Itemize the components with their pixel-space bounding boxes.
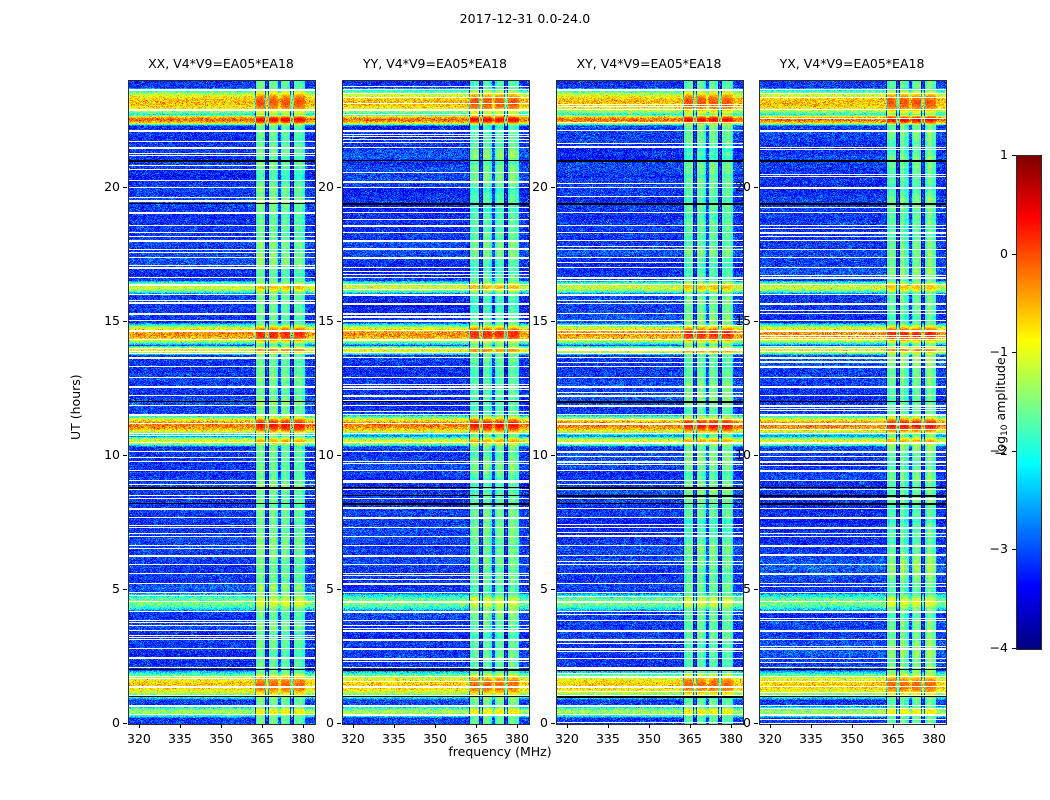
colorbar-tick-label: 1	[964, 147, 1008, 162]
waterfall-panel-yy[interactable]	[342, 80, 530, 725]
waterfall-image-yx	[760, 81, 946, 724]
ytick-label: 15	[290, 313, 334, 328]
xtick-mark	[934, 724, 935, 728]
colorbar-gradient	[1017, 156, 1041, 649]
ytick-mark	[337, 187, 341, 188]
ytick-mark	[123, 321, 127, 322]
ytick-mark	[551, 589, 555, 590]
waterfall-image-yy	[343, 81, 529, 724]
colorbar-tick-label: 0	[964, 246, 1008, 261]
xtick-mark	[353, 724, 354, 728]
ytick-label: 20	[707, 179, 751, 194]
xtick-mark	[852, 724, 853, 728]
waterfall-panel-yx[interactable]	[759, 80, 947, 725]
ytick-label: 5	[76, 581, 120, 596]
xtick-mark	[811, 724, 812, 728]
waterfall-image-xx	[129, 81, 315, 724]
waterfall-panel-xy[interactable]	[556, 80, 744, 725]
ytick-label: 0	[76, 715, 120, 730]
y-axis-label: UT (hours)	[68, 374, 83, 440]
ytick-label: 15	[504, 313, 548, 328]
xtick-mark	[139, 724, 140, 728]
ytick-label: 5	[504, 581, 548, 596]
colorbar-label-suffix: amplitude	[993, 357, 1008, 424]
xtick-mark	[476, 724, 477, 728]
ytick-mark	[754, 589, 758, 590]
ytick-mark	[551, 455, 555, 456]
ytick-mark	[123, 589, 127, 590]
ytick-mark	[551, 187, 555, 188]
colorbar	[1016, 155, 1042, 650]
waterfall-image-xy	[557, 81, 743, 724]
xtick-mark	[770, 724, 771, 728]
ytick-label: 15	[76, 313, 120, 328]
colorbar-label: log10 amplitude	[993, 357, 1010, 455]
xtick-mark	[262, 724, 263, 728]
ytick-mark	[337, 723, 341, 724]
ytick-label: 10	[504, 447, 548, 462]
ytick-mark	[754, 723, 758, 724]
colorbar-label-prefix: log	[993, 436, 1008, 455]
colorbar-label-subscript: 10	[1000, 424, 1010, 435]
ytick-mark	[754, 455, 758, 456]
ytick-label: 10	[707, 447, 751, 462]
ytick-mark	[337, 589, 341, 590]
ytick-label: 0	[707, 715, 751, 730]
colorbar-tick-label: −3	[964, 541, 1008, 556]
ytick-label: 0	[290, 715, 334, 730]
ytick-mark	[123, 455, 127, 456]
xtick-mark	[608, 724, 609, 728]
panel-title-yx: YX, V4*V9=EA05*EA18	[719, 56, 985, 71]
xtick-mark	[435, 724, 436, 728]
figure-canvas: 2017-12-31 0.0-24.0 XX, V4*V9=EA05*EA183…	[0, 0, 1050, 800]
ytick-mark	[754, 321, 758, 322]
x-axis-label: frequency (MHz)	[0, 744, 1000, 759]
ytick-label: 15	[707, 313, 751, 328]
ytick-label: 10	[290, 447, 334, 462]
waterfall-panel-xx[interactable]	[128, 80, 316, 725]
ytick-label: 0	[504, 715, 548, 730]
ytick-label: 10	[76, 447, 120, 462]
xtick-mark	[690, 724, 691, 728]
ytick-mark	[123, 723, 127, 724]
xtick-mark	[649, 724, 650, 728]
xtick-mark	[180, 724, 181, 728]
ytick-mark	[754, 187, 758, 188]
ytick-label: 20	[504, 179, 548, 194]
xtick-mark	[893, 724, 894, 728]
ytick-mark	[337, 321, 341, 322]
ytick-mark	[551, 723, 555, 724]
xtick-mark	[567, 724, 568, 728]
ytick-label: 20	[290, 179, 334, 194]
xtick-mark	[394, 724, 395, 728]
ytick-label: 20	[76, 179, 120, 194]
colorbar-tick-label: −4	[964, 640, 1008, 655]
ytick-mark	[551, 321, 555, 322]
ytick-label: 5	[707, 581, 751, 596]
xtick-mark	[221, 724, 222, 728]
figure-suptitle: 2017-12-31 0.0-24.0	[0, 11, 1050, 26]
ytick-label: 5	[290, 581, 334, 596]
ytick-mark	[337, 455, 341, 456]
ytick-mark	[123, 187, 127, 188]
